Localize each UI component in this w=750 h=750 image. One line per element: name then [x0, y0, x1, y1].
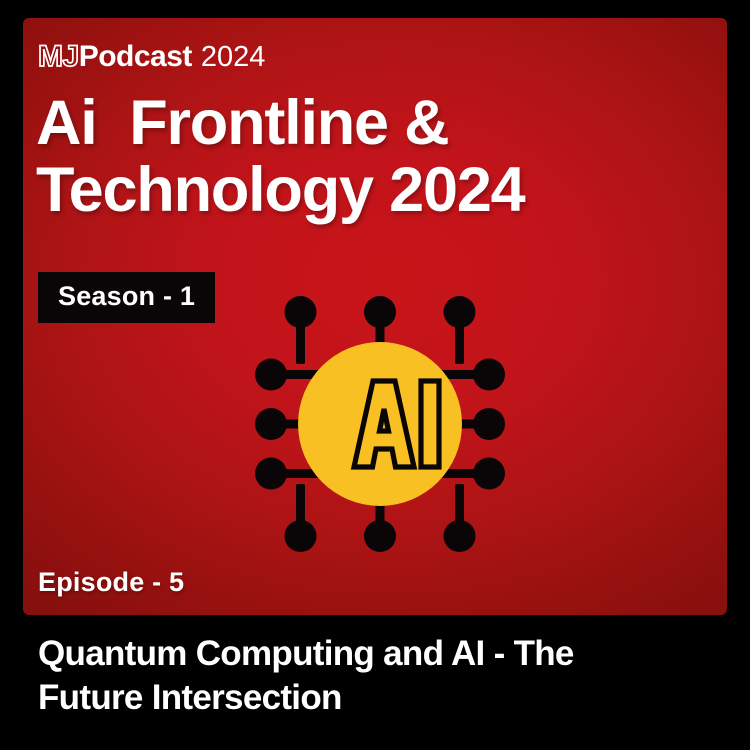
show-title-line-2: Technology 2024 — [36, 157, 696, 224]
show-title-line-1: Ai Frontline & — [36, 90, 696, 157]
artwork-red-panel: MJPodcast 2024 Ai Frontline & Technology… — [23, 18, 727, 615]
brand-logo: MJPodcast 2024 — [38, 40, 265, 74]
brand-mark-solid: Podcast — [79, 40, 192, 74]
season-badge: Season - 1 — [38, 272, 215, 323]
show-title: Ai Frontline & Technology 2024 — [36, 90, 696, 224]
episode-title-caption: Quantum Computing and AI - The Future In… — [38, 632, 710, 720]
brand-year: 2024 — [201, 41, 266, 74]
podcast-cover-artwork: MJPodcast 2024 Ai Frontline & Technology… — [0, 0, 750, 750]
episode-label: Episode - 5 — [38, 567, 184, 598]
season-badge-label: Season - 1 — [58, 281, 195, 311]
episode-title-line-1: Quantum Computing and AI - The — [38, 632, 710, 676]
episode-title-line-2: Future Intersection — [38, 676, 710, 720]
ai-chip-icon — [255, 296, 505, 552]
brand-mark-outline: MJ — [38, 40, 79, 74]
